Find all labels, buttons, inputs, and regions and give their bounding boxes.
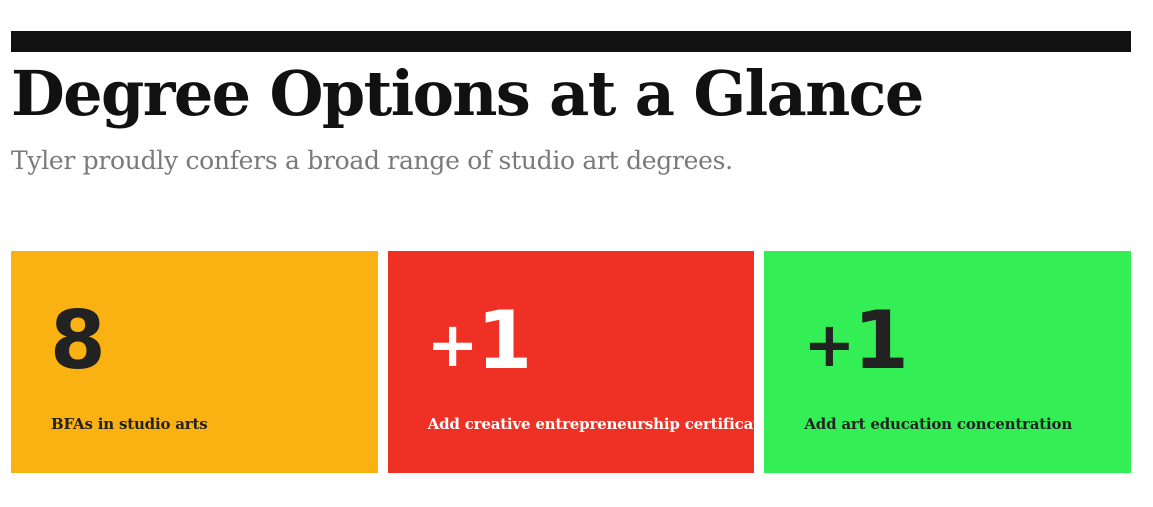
stat-card-certificate: +1 Add creative entrepreneurship certifi…	[388, 251, 755, 473]
stat-label: Add art education concentration	[804, 414, 1072, 434]
heading-block: Degree Options at a Glance Tyler proudly…	[11, 56, 1141, 176]
stat-figure: +1	[427, 301, 529, 385]
page-subtitle: Tyler proudly confers a broad range of s…	[11, 132, 1141, 176]
plus-sign: +	[427, 308, 477, 381]
stat-card-art-education: +1 Add art education concentration	[764, 251, 1131, 473]
degree-options-panel: Degree Options at a Glance Tyler proudly…	[0, 0, 1153, 507]
stat-figure: 8	[50, 301, 102, 385]
page-title: Degree Options at a Glance	[11, 56, 1141, 132]
plus-sign: +	[803, 308, 853, 381]
top-divider-rule	[11, 31, 1131, 52]
stat-number: 1	[477, 294, 529, 387]
stat-figure: +1	[803, 301, 905, 385]
stat-card-bfa: 8 BFAs in studio arts	[11, 251, 378, 473]
stat-label: Add creative entrepreneurship certificat…	[428, 414, 755, 434]
stat-label: BFAs in studio arts	[51, 414, 207, 434]
stat-number: 1	[853, 294, 905, 387]
stat-cards-row: 8 BFAs in studio arts +1 Add creative en…	[11, 251, 1131, 473]
stat-number: 8	[50, 294, 102, 387]
